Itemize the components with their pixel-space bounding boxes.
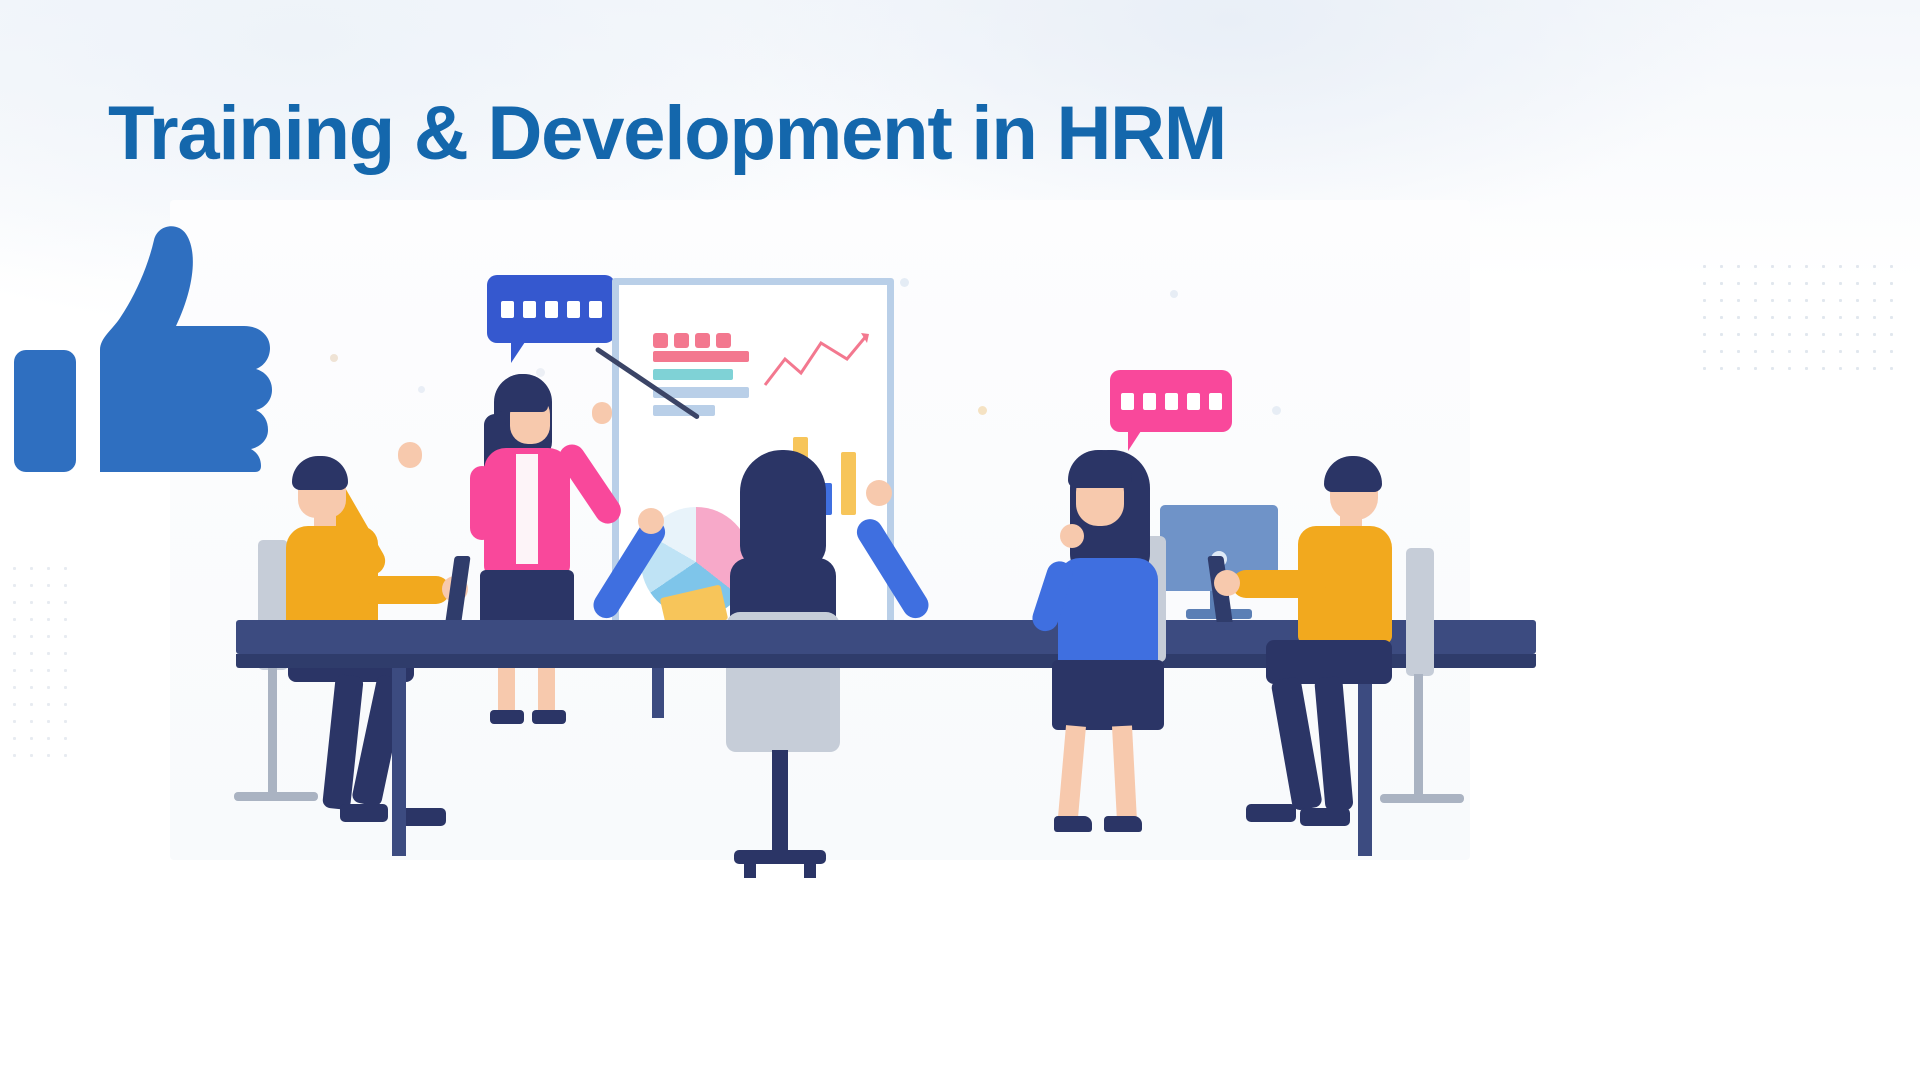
dot-grid-bottom-left	[6, 560, 76, 760]
board-sparkline	[761, 329, 873, 399]
chair-left-post	[268, 668, 277, 798]
pink-speech-bubble	[1110, 370, 1232, 432]
blue-speech-bubble	[487, 275, 615, 343]
illustration-banner: Training & Development in HRM	[0, 0, 1920, 1080]
bubble-dot	[545, 301, 558, 318]
bubble-dot	[1121, 393, 1134, 410]
accent-dot	[1272, 406, 1281, 415]
accent-dot	[978, 406, 987, 415]
bubble-dot	[501, 301, 514, 318]
dot-grid-top-right	[1696, 258, 1896, 378]
page-title: Training & Development in HRM	[108, 96, 1226, 172]
bubble-dot	[567, 301, 580, 318]
bubble-dot	[1187, 393, 1200, 410]
bubble-dot	[589, 301, 602, 318]
person-right-blue	[1040, 446, 1240, 846]
accent-dot	[900, 278, 909, 287]
bubble-dot	[523, 301, 536, 318]
table-leg-center	[652, 668, 664, 718]
thumbs-up-icon	[8, 218, 288, 478]
bubble-dot	[1165, 393, 1178, 410]
table-leg-left	[392, 668, 406, 856]
person-far-right-yellow	[1256, 448, 1466, 848]
board-pips	[653, 333, 731, 348]
board-text-rows	[653, 351, 749, 423]
accent-dot	[418, 386, 425, 393]
bubble-dot	[1209, 393, 1222, 410]
accent-dot	[1170, 290, 1178, 298]
accent-dot	[330, 354, 338, 362]
bubble-dot	[1143, 393, 1156, 410]
accent-dot	[536, 368, 545, 377]
